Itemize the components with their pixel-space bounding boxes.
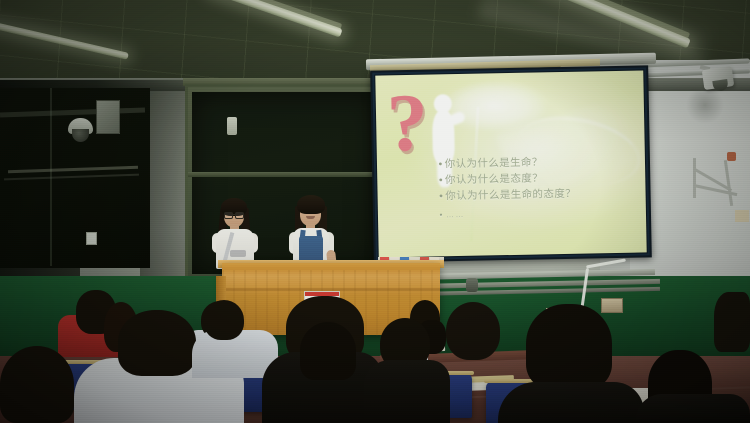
audience-torso-front-7 — [498, 382, 644, 423]
slide-bullet-list: •你认为什么是生命？ •你认为什么是态度？ •你认为什么是生命的态度？ •…… — [438, 152, 643, 221]
audience-head-front-6 — [446, 302, 500, 360]
bullet-text-1: 你认为什么是生命？ — [445, 156, 543, 170]
audience-head-front-2 — [118, 310, 196, 376]
rail-clip — [466, 278, 478, 292]
blackboard-chalk-rail — [188, 172, 382, 177]
bullet-text-2: 你认为什么是态度？ — [445, 173, 543, 187]
bullet-dot-4: • — [439, 210, 443, 219]
projection-screen-frame: ? •你认为什么是生命？ •你认为什么是态度？ •你认为什么是生命的态度？ — [370, 65, 652, 262]
audience-head-front-3 — [204, 300, 244, 340]
glasses-icon — [224, 212, 244, 217]
projection-screen: ? •你认为什么是生命？ •你认为什么是态度？ •你认为什么是生命的态度？ — [375, 70, 646, 257]
presenter-left-shirt-print — [230, 250, 246, 257]
speaker-shadow — [686, 86, 724, 124]
bullet-dot-1: • — [439, 158, 443, 170]
glasses-bridge — [231, 214, 235, 215]
bracket-knob — [727, 152, 736, 161]
audience-torso-front-5 — [364, 360, 450, 423]
bullet-text-3: 你认为什么是生命的态度？ — [445, 188, 576, 203]
audience-head-front-1 — [0, 346, 74, 423]
presenter-right-hair — [297, 195, 325, 214]
bracket-arm-c — [724, 160, 733, 206]
bullet-text-4: …… — [446, 210, 465, 219]
bracket-post — [693, 158, 696, 198]
blackboard-mark — [227, 117, 237, 135]
wall-mount-bracket — [693, 158, 738, 206]
audience-head-edge — [714, 292, 750, 352]
slide-bullet-3: •你认为什么是生命的态度？ — [439, 185, 643, 205]
glasses-lens-right — [235, 212, 244, 219]
audience-torso-front-8 — [636, 394, 750, 423]
wall-note — [735, 210, 749, 222]
junction-box — [96, 100, 120, 134]
classroom-photo: ? •你认为什么是生命？ •你认为什么是态度？ •你认为什么是生命的态度？ — [0, 0, 750, 423]
wall-outlet-left — [86, 232, 97, 245]
audience-head-front-4b — [300, 322, 356, 380]
audience-head-front-7 — [526, 304, 612, 390]
bullet-dot-2: • — [439, 174, 443, 186]
bullet-dot-3: • — [439, 191, 443, 203]
wall-outlet-green — [601, 298, 623, 313]
